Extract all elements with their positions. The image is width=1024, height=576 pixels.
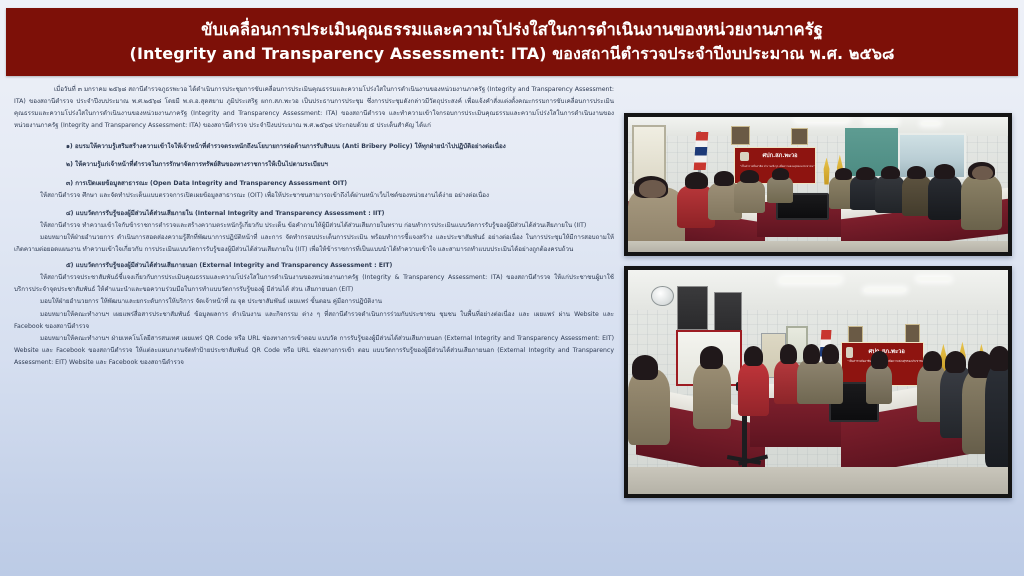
information-poster: [677, 286, 707, 331]
seated-officer: [875, 175, 905, 213]
officer-head: [871, 351, 888, 369]
officer-head: [780, 344, 797, 364]
header-title-line-2: (Integrity and Transparency Assessment: …: [130, 43, 895, 65]
officer-head: [803, 344, 820, 364]
room-floor: [628, 241, 1008, 252]
presenting-officer: [767, 176, 794, 203]
officer-head: [632, 355, 659, 380]
thai-flag-icon: [693, 132, 708, 170]
officer-head: [772, 168, 789, 180]
officer-head: [907, 166, 926, 180]
seated-officer: [693, 362, 731, 429]
ceiling-light-icon: [795, 118, 848, 122]
list-item-5-sub-2: มอบให้ฝ่ายอำนวยการ ให้พัฒนาและยกระดับการ…: [14, 296, 614, 308]
list-item-4-sub-2: มอบหมายให้ฝ่ายอำนวยการ ดำเนินการสอดส่องค…: [14, 232, 614, 256]
seated-officer: [928, 175, 962, 220]
officer-head: [714, 171, 735, 186]
framed-portrait-icon: [791, 128, 808, 146]
intro-paragraph: เมื่อวันที่ ๓ มกราคม ๒๕๖๘ สถานีตำรวจภูธร…: [14, 84, 614, 132]
ceiling-light-icon: [916, 277, 951, 281]
ceiling-light-icon: [864, 120, 898, 123]
meeting-photo-bottom: ศปก.สภ.พะวอ "เป็นตำรวจมืออาชีพ ทำงานเชิง…: [624, 266, 1012, 498]
list-item-3-sub-1: ให้สถานีตำรวจ ศึกษา และจัดทำประเด็นแบบตร…: [14, 190, 614, 202]
seated-officer: [816, 360, 843, 405]
room-floor: [628, 467, 1008, 494]
officer-head: [856, 167, 875, 181]
header-banner: ขับเคลื่อนการประเมินคุณธรรมและความโปร่งใ…: [6, 8, 1018, 76]
list-item-5-label: ๕) แบบวัดการรับรู้ของผู้มีส่วนได้ส่วนเสี…: [14, 256, 614, 272]
framed-portrait-icon: [731, 126, 750, 145]
list-item-5-sub-3: มอบหมายให้คณะทำงานฯ เผยแพร่สื่อสารประชาส…: [14, 309, 614, 333]
list-item-3-label: ๓) การเปิดเผยข้อมูลสาธารณะ (Open Data In…: [14, 172, 614, 190]
wall-clock-icon: [651, 286, 674, 306]
police-emblem-icon: [846, 347, 853, 358]
meeting-photo-top: ศปก.สภ.พะวอ "เป็นตำรวจมืออาชีพ ทำงานเชิง…: [624, 113, 1012, 256]
meeting-photo-bottom-scene: ศปก.สภ.พะวอ "เป็นตำรวจมืออาชีพ ทำงานเชิง…: [628, 270, 1008, 494]
officer-head: [945, 351, 966, 373]
ceiling-light-icon: [863, 288, 906, 292]
officer-face: [639, 180, 666, 198]
article-body: เมื่อวันที่ ๓ มกราคม ๒๕๖๘ สถานีตำรวจภูธร…: [14, 84, 614, 532]
ceiling-light-icon: [779, 277, 842, 283]
officer-head: [822, 344, 839, 364]
officer-head: [835, 168, 852, 180]
presenting-officer: [866, 364, 893, 404]
officer-head: [744, 346, 763, 366]
officer-head: [989, 346, 1008, 371]
unit-banner-title: ศปก.สภ.พะวอ: [762, 152, 797, 160]
meeting-photo-top-scene: ศปก.สภ.พะวอ "เป็นตำรวจมืออาชีพ ทำงานเชิง…: [628, 117, 1008, 252]
list-item-5-sub-4: มอบหมายให้คณะทำงานฯ ฝ่ายเทคโนโลยีสารสนเท…: [14, 333, 614, 369]
officer-face: [972, 166, 993, 181]
ceiling-light-icon: [921, 122, 940, 125]
officer-head: [700, 346, 723, 368]
seated-officer: [985, 364, 1008, 467]
unit-banner-subtitle: "เป็นตำรวจมืออาชีพ ทำงานเชิงรุก เพื่อควา…: [740, 165, 810, 168]
officer-head: [934, 164, 955, 179]
list-item-2-label: ๒) ให้ความรู้แก่เจ้าหน้าที่ตำรวจในการรัก…: [14, 153, 614, 171]
officer-head: [881, 166, 900, 180]
header-title-line-1: ขับเคลื่อนการประเมินคุณธรรมและความโปร่งใ…: [201, 19, 823, 41]
list-item-5-sub-1: ให้สถานีตำรวจประชาสัมพันธ์ชี้แจงเกี่ยวกั…: [14, 272, 614, 296]
officer-head: [923, 351, 942, 371]
list-item-1-label: ๑) อบรมให้ความรู้เสริมสร้างความเข้าใจให้…: [14, 135, 614, 153]
seated-officer: [628, 369, 670, 445]
officer-head: [740, 170, 759, 184]
officer-head: [685, 172, 708, 188]
list-item-4-sub-1: ให้สถานีตำรวจ ทำความเข้าใจกับข้าราชการตำ…: [14, 220, 614, 232]
list-item-4-label: ๔) แบบวัดการรับรู้ของผู้มีส่วนได้ส่วนเสี…: [14, 202, 614, 220]
seated-officer: [961, 174, 1003, 231]
seated-officer: [734, 180, 764, 212]
police-emblem-icon: [740, 152, 749, 161]
seated-officer: [738, 362, 768, 416]
